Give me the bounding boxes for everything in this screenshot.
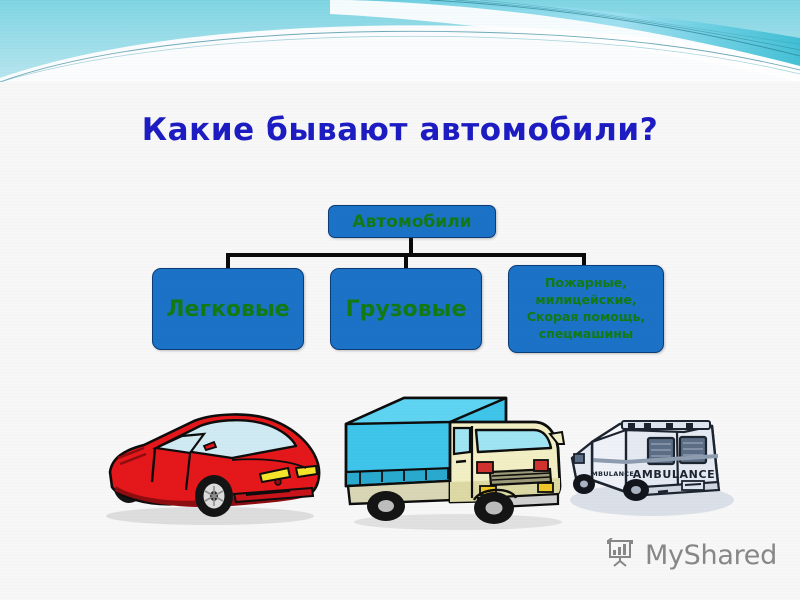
car-headlight-right: [296, 466, 317, 477]
decorative-wave-banner: [0, 0, 800, 82]
presentation-slide: Какие бывают автомобили? Автомобили Легк…: [0, 0, 800, 600]
red-sports-car-illustration: [82, 398, 328, 530]
truck-side-window: [454, 428, 470, 454]
ambulance-graphic: AMBULANCE AMBULANCE: [562, 402, 738, 520]
ambulance-exhaust: [658, 491, 668, 492]
connector-horizontal-bus: [226, 253, 586, 257]
red-sports-car-graphic: [82, 398, 328, 530]
cargo-truck-illustration: [338, 382, 574, 532]
diagram-node-special-vehicles[interactable]: Пожарные, милицейские, Скорая помощь, сп…: [508, 265, 664, 353]
ambulance-plate-text: [685, 484, 701, 485]
car-front-wheel: [195, 475, 233, 517]
truck-headlight-right: [538, 483, 553, 492]
truck-rear-wheel: [367, 491, 405, 521]
presentation-board-icon-graphic: [604, 538, 636, 568]
diagram-node-passenger-cars[interactable]: Легковые: [152, 268, 304, 350]
truck-lamp-left: [477, 462, 493, 473]
diagram-node-trucks[interactable]: Грузовые: [330, 268, 482, 350]
connector-root-stem: [409, 238, 413, 256]
presentation-board-icon: [604, 538, 636, 572]
ambulance-cab-window: [574, 454, 584, 463]
ambulance-light-bar: [622, 421, 710, 429]
connector-drop-left: [226, 253, 230, 269]
ambulance-rear-badge: AMBULANCE: [633, 468, 716, 481]
ambulance-door-split: [677, 432, 678, 490]
truck-windshield: [476, 430, 551, 452]
page-title: Какие бывают автомобили?: [0, 112, 800, 148]
truck-front-wheel: [474, 492, 514, 524]
wave-banner-graphic: [0, 0, 800, 82]
ambulance-illustration: AMBULANCE AMBULANCE: [562, 402, 738, 520]
truck-door-handle: [456, 461, 466, 462]
truck-lamp-right: [534, 460, 548, 471]
car-badge: [275, 479, 281, 485]
myshared-watermark: MyShared: [604, 538, 777, 572]
cargo-truck-graphic: [338, 382, 574, 532]
ambulance-rear-wheel: [623, 479, 649, 501]
watermark-label: MyShared: [645, 540, 777, 571]
connector-drop-middle: [404, 253, 408, 269]
diagram-node-root[interactable]: Автомобили: [328, 205, 496, 238]
ambulance-front-wheel: [573, 474, 595, 494]
